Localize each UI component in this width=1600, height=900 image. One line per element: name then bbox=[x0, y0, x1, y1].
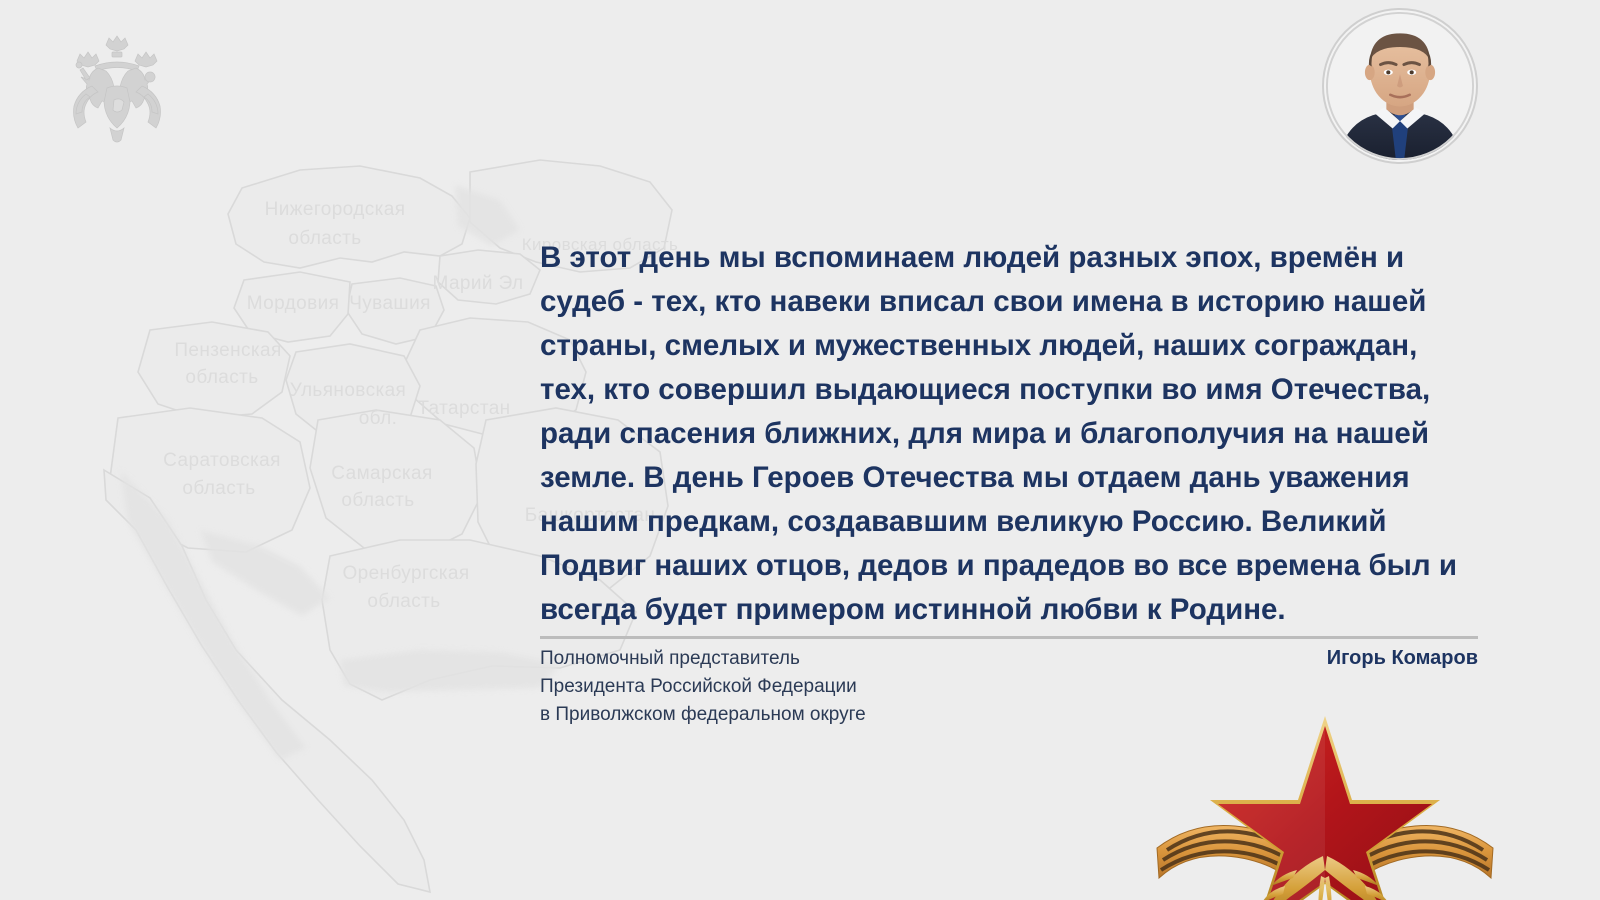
map-region-label: Пензенская bbox=[174, 340, 281, 361]
map-region-label: Самарская bbox=[331, 463, 432, 484]
laurel-branches bbox=[1255, 856, 1395, 900]
map-region-label: Татарстан bbox=[417, 398, 510, 419]
map-region-label: Оренбургская bbox=[342, 563, 469, 584]
map-region-label: Чувашия bbox=[349, 293, 431, 314]
map-region-label: Саратовская bbox=[163, 450, 281, 471]
message-body: В этот день мы вспоминаем людей разных э… bbox=[540, 236, 1480, 632]
signatory-title-line-1: Полномочный представитель bbox=[540, 645, 866, 673]
map-region-label: область bbox=[341, 490, 414, 511]
signatory-title-line-3: в Приволжском федеральном округе bbox=[540, 701, 866, 729]
red-star bbox=[1210, 716, 1440, 900]
signatory-name: Игорь Комаров bbox=[1327, 645, 1478, 670]
map-region-label: область bbox=[288, 228, 361, 249]
slide-canvas: НижегородскаяобластьКировская областьМар… bbox=[0, 0, 1600, 900]
signatory-title: Полномочный представитель Президента Рос… bbox=[540, 645, 866, 729]
map-region-label: Мордовия bbox=[247, 293, 340, 314]
map-region-label: Марий Эл bbox=[433, 273, 524, 294]
map-region-label: область bbox=[367, 591, 440, 612]
map-region-label: Ульяновская bbox=[290, 380, 407, 401]
message-paragraph: В этот день мы вспоминаем людей разных э… bbox=[540, 236, 1480, 632]
victory-star-emblem-icon bbox=[1145, 700, 1505, 900]
map-region-label: область bbox=[182, 478, 255, 499]
signature-divider bbox=[540, 636, 1478, 639]
signatory-title-line-2: Президента Российской Федерации bbox=[540, 673, 866, 701]
official-portrait-avatar bbox=[1322, 8, 1478, 164]
russian-coat-of-arms-icon bbox=[62, 28, 172, 146]
map-region-label: Нижегородская bbox=[265, 199, 406, 220]
signature-block: Полномочный представитель Президента Рос… bbox=[540, 645, 1478, 729]
saint-george-ribbon-right bbox=[1357, 825, 1493, 878]
map-region-label: обл. bbox=[359, 408, 398, 429]
map-region-label: область bbox=[185, 367, 258, 388]
saint-george-ribbon-left bbox=[1157, 825, 1293, 878]
